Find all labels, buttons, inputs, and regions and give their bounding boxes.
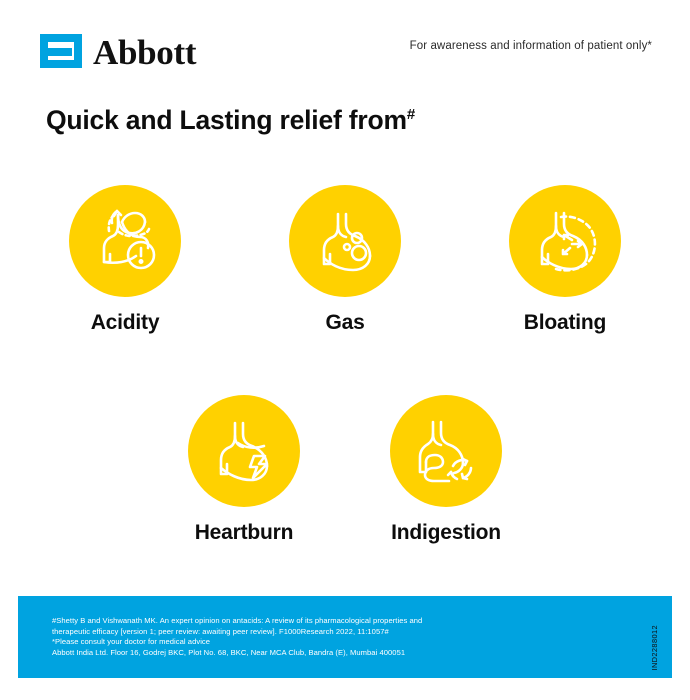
- footer-line: #Shetty B and Vishwanath MK. An expert o…: [52, 616, 612, 627]
- gas-icon-badge: [289, 185, 401, 297]
- footer-line: *Please consult your doctor for medical …: [52, 637, 612, 648]
- symptom-row-2: Heartburn: [46, 395, 644, 545]
- symptom-label: Acidity: [91, 311, 160, 335]
- symptom-item-indigestion: Indigestion: [366, 395, 526, 545]
- heartburn-icon-badge: [188, 395, 300, 507]
- symptom-item-gas: Gas: [266, 185, 424, 335]
- footer-disclaimer: #Shetty B and Vishwanath MK. An expert o…: [52, 616, 612, 658]
- footer-line: Abbott India Ltd. Floor 16, Godrej BKC, …: [52, 648, 612, 659]
- page-title: Quick and Lasting relief from#: [46, 105, 415, 136]
- page-title-superscript: #: [407, 106, 415, 123]
- footer-line: therapeutic efficacy [version 1; peer re…: [52, 627, 612, 638]
- page-title-text: Quick and Lasting relief from: [46, 105, 407, 135]
- acidity-icon-badge: [69, 185, 181, 297]
- stomach-intestine-cycle-icon: [409, 414, 483, 488]
- awareness-note: For awareness and information of patient…: [410, 40, 652, 52]
- bloating-icon-badge: [509, 185, 621, 297]
- stomach-gas-bubbles-icon: [308, 204, 382, 278]
- document-code: IND2288012: [650, 625, 659, 671]
- symptom-label: Heartburn: [195, 521, 294, 545]
- symptom-row-1: Acidity: [46, 185, 644, 335]
- poster-page: Abbott For awareness and information of …: [0, 0, 690, 700]
- stomach-acid-reflux-icon: [88, 204, 162, 278]
- symptom-label: Bloating: [524, 311, 606, 335]
- stomach-bloating-expand-icon: [528, 204, 602, 278]
- symptom-item-acidity: Acidity: [46, 185, 204, 335]
- brand-logo: Abbott: [38, 32, 196, 70]
- indigestion-icon-badge: [390, 395, 502, 507]
- symptom-label: Gas: [325, 311, 364, 335]
- brand-name: Abbott: [93, 35, 196, 70]
- header: Abbott For awareness and information of …: [38, 32, 652, 82]
- symptom-item-bloating: Bloating: [486, 185, 644, 335]
- symptom-grid: Acidity: [46, 185, 644, 545]
- symptom-label: Indigestion: [391, 521, 501, 545]
- stomach-lightning-bolt-icon: [207, 414, 281, 488]
- abbott-a-mark-icon: [38, 32, 84, 70]
- footer-bar: #Shetty B and Vishwanath MK. An expert o…: [18, 596, 672, 678]
- symptom-item-heartburn: Heartburn: [164, 395, 324, 545]
